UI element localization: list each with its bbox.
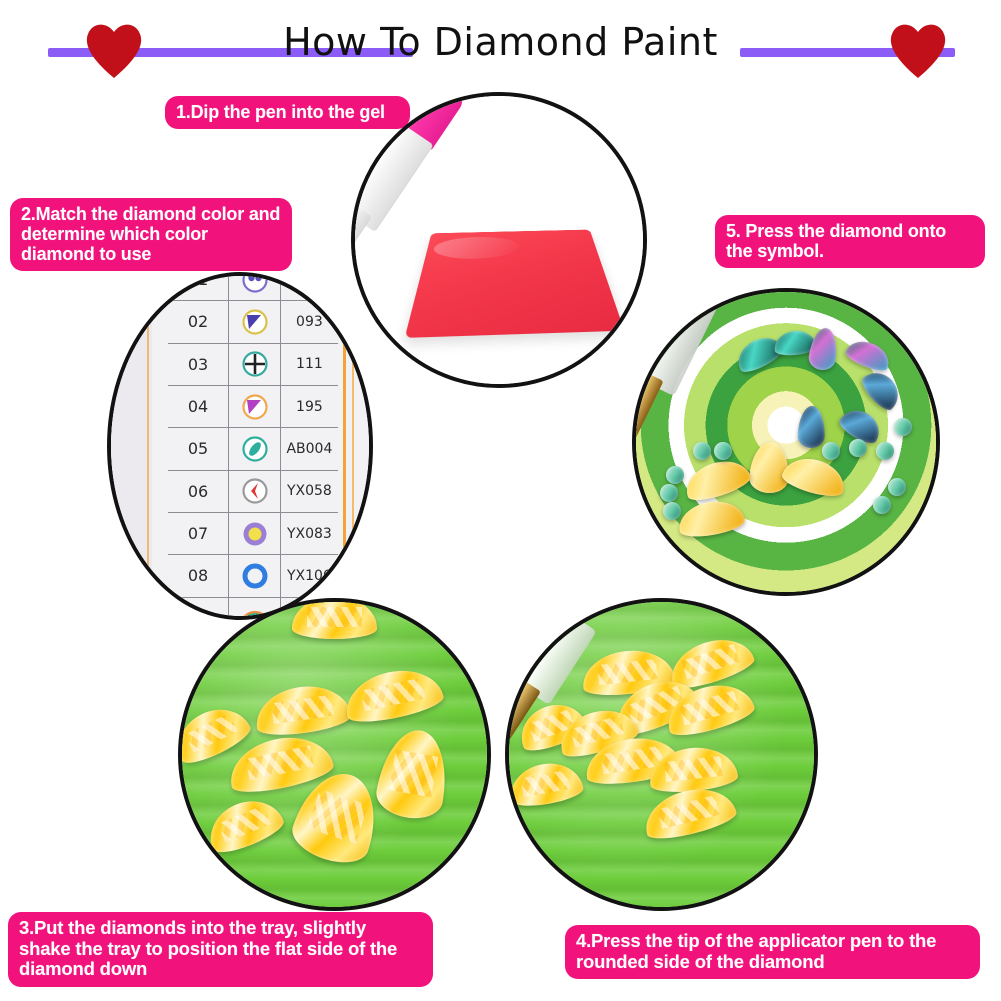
chart-symbol-cell [229,272,280,300]
mandala-gem [714,442,732,460]
color-chart-row: 07YX083 [168,513,338,555]
mandala-gem [876,442,894,460]
diamond-tray-image [182,602,487,907]
color-chart-row: 04195 [168,386,338,428]
chart-dmc-cell: YX083 [281,526,338,542]
double-dot-icon [242,272,268,293]
step-2-label: 2.Match the diamond color and determine … [10,198,292,271]
page-title: How To Diamond Paint [0,20,1001,64]
chart-dmc-cell: YX058 [281,483,338,499]
chart-margin-line [147,276,149,616]
color-chart-image: 0102002093031110419505AB00406YX05807YX08… [111,276,369,616]
mandala-gem [849,439,867,457]
chart-symbol-cell [229,428,280,469]
chart-margin-line [343,276,346,616]
mandala-gem [693,442,711,460]
red-gel-pad [405,230,625,338]
mandala-canvas-image [636,292,936,592]
plus-cross-icon [242,351,268,377]
chart-symbol-cell [229,471,280,512]
chart-dmc-cell: 111 [281,356,338,372]
chart-dmc-cell: AB004 [281,441,338,457]
step-3-photo [178,598,491,911]
chart-symbol-cell [229,386,280,427]
left-arrow-icon [242,478,268,504]
step-4-photo [505,598,818,911]
chart-code-cell: 02 [168,301,230,342]
chart-code-cell: 07 [168,513,230,554]
infographic-canvas: How To Diamond Paint 1.Dip the pen into … [0,0,1001,1001]
chart-code-cell: 03 [168,344,230,385]
color-chart-row: 01020 [168,272,338,301]
chart-symbol-cell [229,301,280,342]
chart-code-cell: 04 [168,386,230,427]
chart-dmc-cell: 093 [281,314,338,330]
filled-triangle-icon [242,309,268,335]
mandala-gem [888,478,906,496]
color-chart-row: 02093 [168,301,338,343]
slanted-oval-icon [242,436,268,462]
step-5-label: 5. Press the diamond onto the symbol. [715,215,985,268]
step-5-photo [632,288,940,596]
color-chart-row: 05AB004 [168,428,338,470]
chart-dmc-cell: 195 [281,399,338,415]
step-2-photo: 0102002093031110419505AB00406YX05807YX08… [107,272,373,620]
color-chart-table: 0102002093031110419505AB00406YX05807YX08… [168,272,338,620]
filled-triangle-icon [242,394,268,420]
step-4-label: 4.Press the tip of the applicator pen to… [565,925,980,979]
pen-picking-diamond-image [509,602,814,907]
mandala-gem [666,466,684,484]
color-chart-row: 08YX106 [168,555,338,597]
chart-code-cell: 06 [168,471,230,512]
chart-symbol-cell [229,344,280,385]
chart-dmc-cell: 020 [281,272,338,288]
chart-margin-line [352,276,354,616]
color-chart-row: 03111 [168,344,338,386]
mandala-gem [822,442,840,460]
chart-symbol-cell [229,555,280,596]
chart-symbol-cell [229,513,280,554]
chart-dmc-cell: YX106 [281,568,338,584]
step-3-label: 3.Put the diamonds into the tray, slight… [8,912,433,987]
chart-code-cell: 08 [168,555,230,596]
mandala-gem [660,484,678,502]
color-chart-row: 06YX058 [168,471,338,513]
mandala-gem [873,496,891,514]
mandala-gem [894,418,912,436]
mandala-gem [663,502,681,520]
filled-circle-icon [242,521,268,547]
chart-code-cell: 01 [168,272,230,300]
step-1-photo [351,92,647,388]
chart-code-cell: 05 [168,428,230,469]
pen-dipping-into-gel-image [355,96,643,384]
ring-donut-icon [242,563,268,589]
